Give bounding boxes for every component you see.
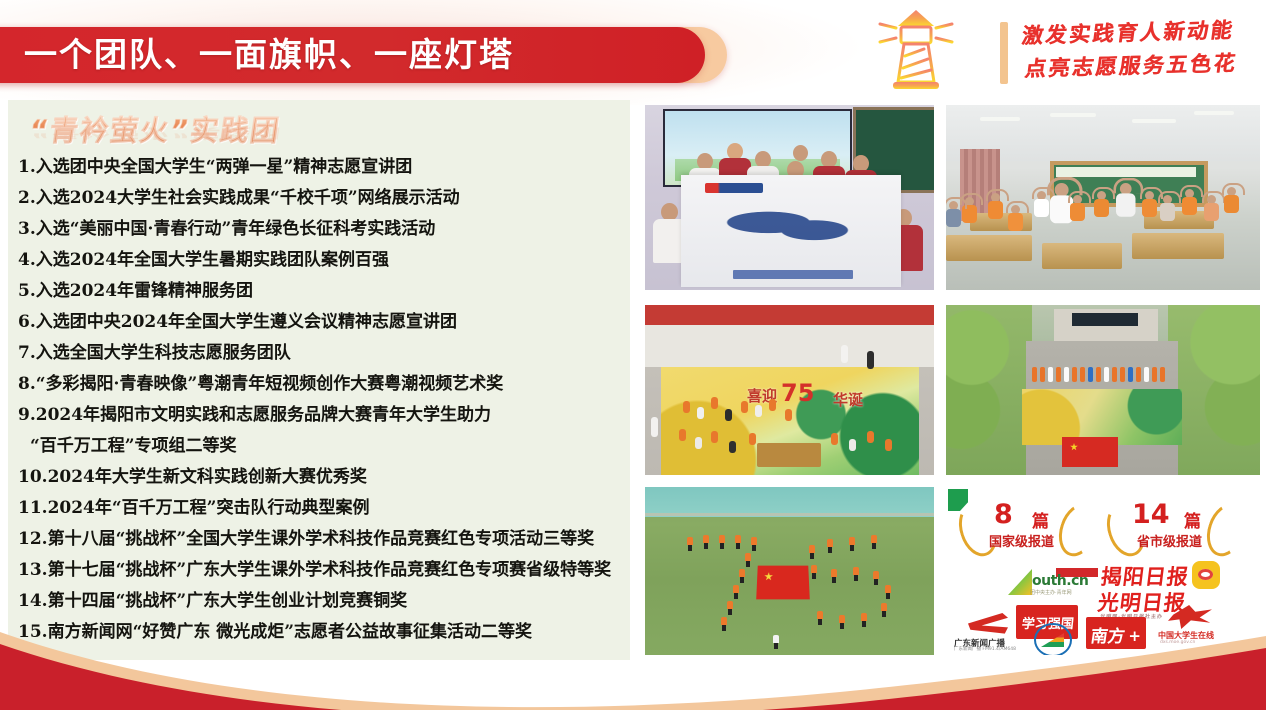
photo-banner-ceremony <box>645 105 934 290</box>
list-item: 5.入选2024年雷锋精神服务团 <box>18 276 624 307</box>
header: 一个团队、一面旗帜、一座灯塔 <box>0 0 1266 100</box>
list-item: 12.第十八届“挑战杯”全国大学生课外学术科技作品竞赛红色专项活动三等奖 <box>18 524 624 555</box>
list-item: 8.“多彩揭阳·青春映像”粤潮青年短视频创作大赛粤潮视频艺术奖 <box>18 369 624 400</box>
logo-china-youth-net: outh.cn 团中央主办·青年网 <box>1008 567 1100 599</box>
badge-label: 省市级报道 <box>1137 531 1202 550</box>
slogan-accent-bar <box>1000 22 1008 84</box>
photo-mural-outdoor <box>946 305 1260 475</box>
lighthouse-icon <box>876 8 956 92</box>
slogan-line-2: 点亮志愿服务五色花 <box>1023 45 1263 85</box>
badge-count: 14 <box>1132 499 1170 530</box>
laurel-right-icon <box>1053 499 1104 561</box>
achievements-panel: “青衿萤火”实践团 “青衿萤火”实践团 1.入选团中央全国大学生“两弹一星”精神… <box>8 100 630 660</box>
badge-count: 8 <box>994 499 1013 530</box>
calligraphy-slogan: 激发实践育人新动能 点亮志愿服务五色花 <box>1000 20 1260 88</box>
logo-youth-latin: outh.cn <box>1032 573 1088 589</box>
badge-provincial-coverage: 14 篇 省市级报道 <box>1106 501 1246 555</box>
list-item: 14.第十四届“挑战杯”广东大学生创业计划竞赛铜奖 <box>18 586 624 617</box>
photo-classroom-activity <box>946 105 1260 290</box>
photo-grid: 喜迎 75 华诞 <box>645 105 1260 660</box>
list-item: 4.入选2024年全国大学生暑期实践团队案例百强 <box>18 245 624 276</box>
list-item-continuation: “百千万工程”专项组二等奖 <box>18 431 624 462</box>
panel-title: “青衿萤火”实践团 <box>27 109 283 147</box>
list-item: 9.2024年揭阳市文明实践和志愿服务品牌大赛青年大学生助力 <box>18 400 624 431</box>
photo-mural-indoor: 喜迎 75 华诞 <box>645 305 934 475</box>
logo-sina-weibo <box>1192 561 1220 589</box>
logo-youth-tagline: 团中央主办·青年网 <box>1030 589 1072 596</box>
footer-wave <box>0 614 1266 710</box>
achievement-list: 1.入选团中央全国大学生“两弹一星”精神志愿宣讲团 2.入选2024大学生社会实… <box>18 152 624 648</box>
badge-national-coverage: 8 篇 国家级报道 <box>958 501 1098 555</box>
page-title: 一个团队、一面旗帜、一座灯塔 <box>24 27 514 83</box>
list-item: 6.入选团中央2024年全国大学生遵义会议精神志愿宣讲团 <box>18 307 624 338</box>
list-item: 2.入选2024大学生社会实践成果“千校千项”网络展示活动 <box>18 183 624 214</box>
list-item: 13.第十七届“挑战杯”广东大学生课外学术科技作品竞赛红色专项赛省级特等奖 <box>18 555 624 586</box>
laurel-right-icon <box>1201 499 1252 561</box>
list-item: 10.2024年大学生新文科实践创新大赛优秀奖 <box>18 462 624 493</box>
badge-label: 国家级报道 <box>989 531 1054 550</box>
list-item: 11.2024年“百千万工程”突击队行动典型案例 <box>18 493 624 524</box>
slide-root: 一个团队、一面旗帜、一座灯塔 <box>0 0 1266 710</box>
list-item: 7.入选全国大学生科技志愿服务团队 <box>18 338 624 369</box>
badge-unit: 篇 <box>1032 507 1049 532</box>
student-row <box>1032 367 1172 383</box>
badge-unit: 篇 <box>1184 507 1201 532</box>
list-item: 1.入选团中央全国大学生“两弹一星”精神志愿宣讲团 <box>18 152 624 183</box>
list-item: 3.入选“美丽中国·青春行动”青年绿色长征科考实践活动 <box>18 214 624 245</box>
